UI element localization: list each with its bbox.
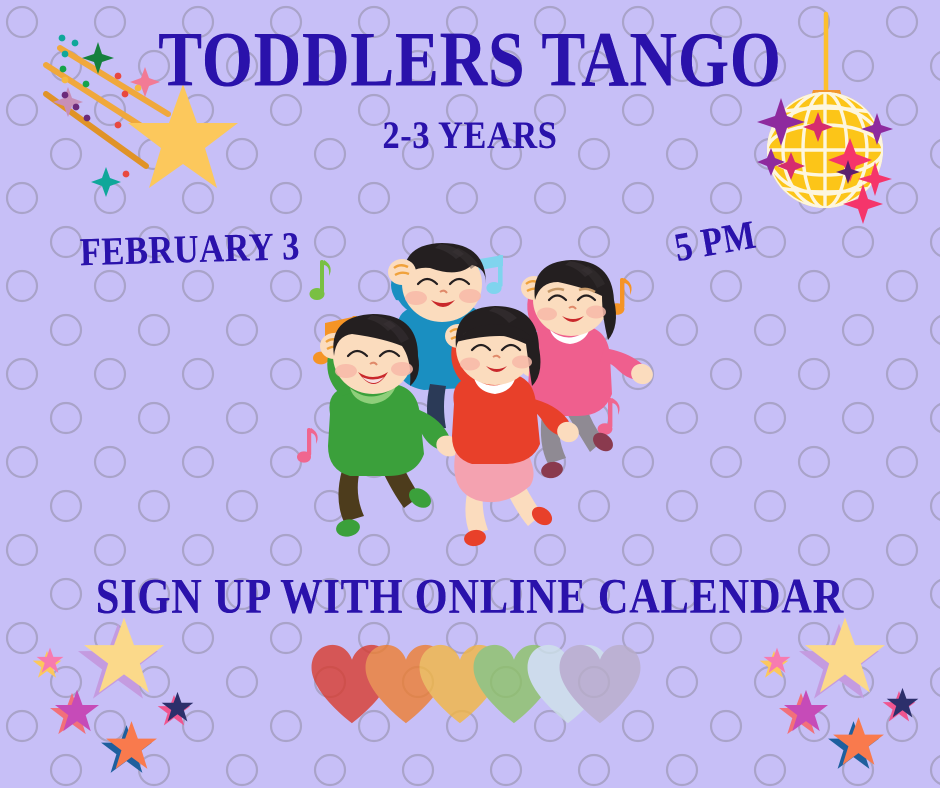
poster-canvas: .sk { fill:#fbdcbe; } .hr { fill:#241f20… (0, 0, 940, 788)
signup-call-to-action: SIGN UP WITH ONLINE CALENDAR (19, 572, 921, 621)
star-cluster-bottom-right (742, 612, 940, 788)
dancing-children-illustration: .sk { fill:#fbdcbe; } .hr { fill:#241f20… (290, 238, 652, 540)
child-girl-pink (521, 260, 656, 480)
note-green (310, 260, 331, 300)
event-time: 5 PM (671, 214, 758, 268)
note-pink-left (297, 428, 318, 463)
event-date: FEBRUARY 3 (79, 226, 300, 272)
star-cluster-bottom-left (0, 612, 235, 788)
heart-row-decoration (300, 628, 650, 738)
page-title: TODDLERS TANGO (28, 22, 912, 100)
age-range-subtitle: 2-3 YEARS (24, 115, 917, 155)
